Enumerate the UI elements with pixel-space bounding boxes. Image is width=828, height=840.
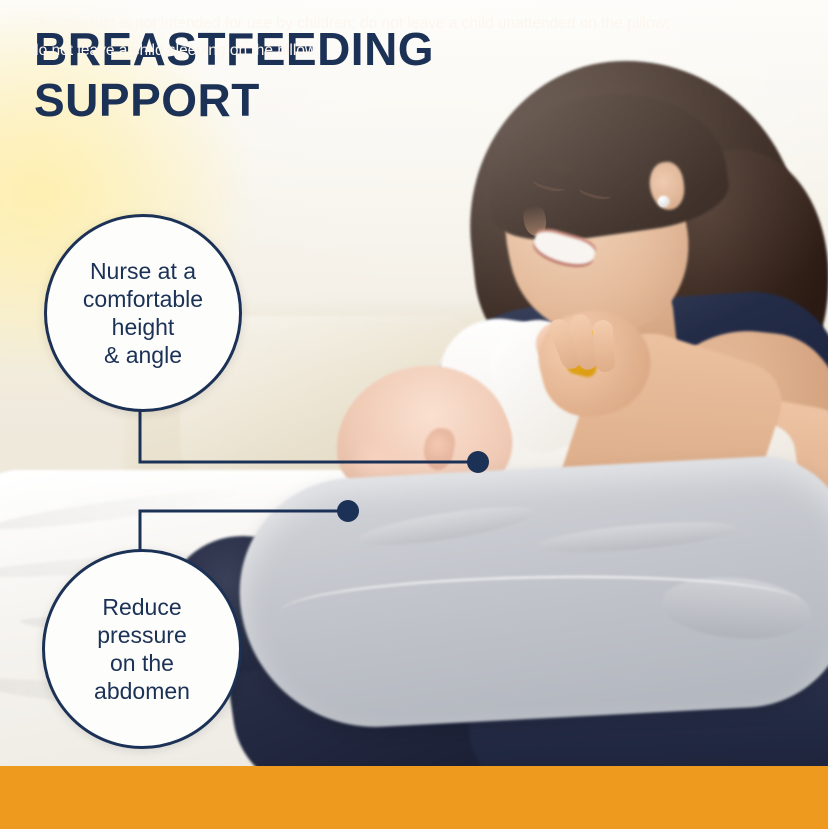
nursing-pillow	[234, 452, 828, 734]
pillow-crease	[659, 572, 814, 645]
pillow-crease	[537, 516, 738, 557]
callout-bubble-comfortable-height[interactable]: Nurse at a comfortable height & angle	[44, 214, 242, 412]
page-title-line-2: SUPPORT	[34, 75, 554, 126]
disclaimer-text: This product is not intended for use by …	[30, 10, 820, 64]
disclaimer-banner	[0, 766, 828, 829]
mother-earring	[658, 196, 669, 207]
callout-text-reduce-pressure: Reduce pressure on the abdomen	[80, 593, 204, 705]
mother-finger	[592, 319, 616, 372]
duvet-fold	[0, 482, 250, 536]
infographic-stage: BREASTFEEDING SUPPORT Nurse at a comfort…	[0, 0, 828, 840]
callout-text-comfortable-height: Nurse at a comfortable height & angle	[69, 257, 217, 369]
pillow-crease	[355, 499, 537, 553]
bottom-margin	[0, 829, 828, 840]
callout-bubble-reduce-pressure[interactable]: Reduce pressure on the abdomen	[42, 549, 242, 749]
